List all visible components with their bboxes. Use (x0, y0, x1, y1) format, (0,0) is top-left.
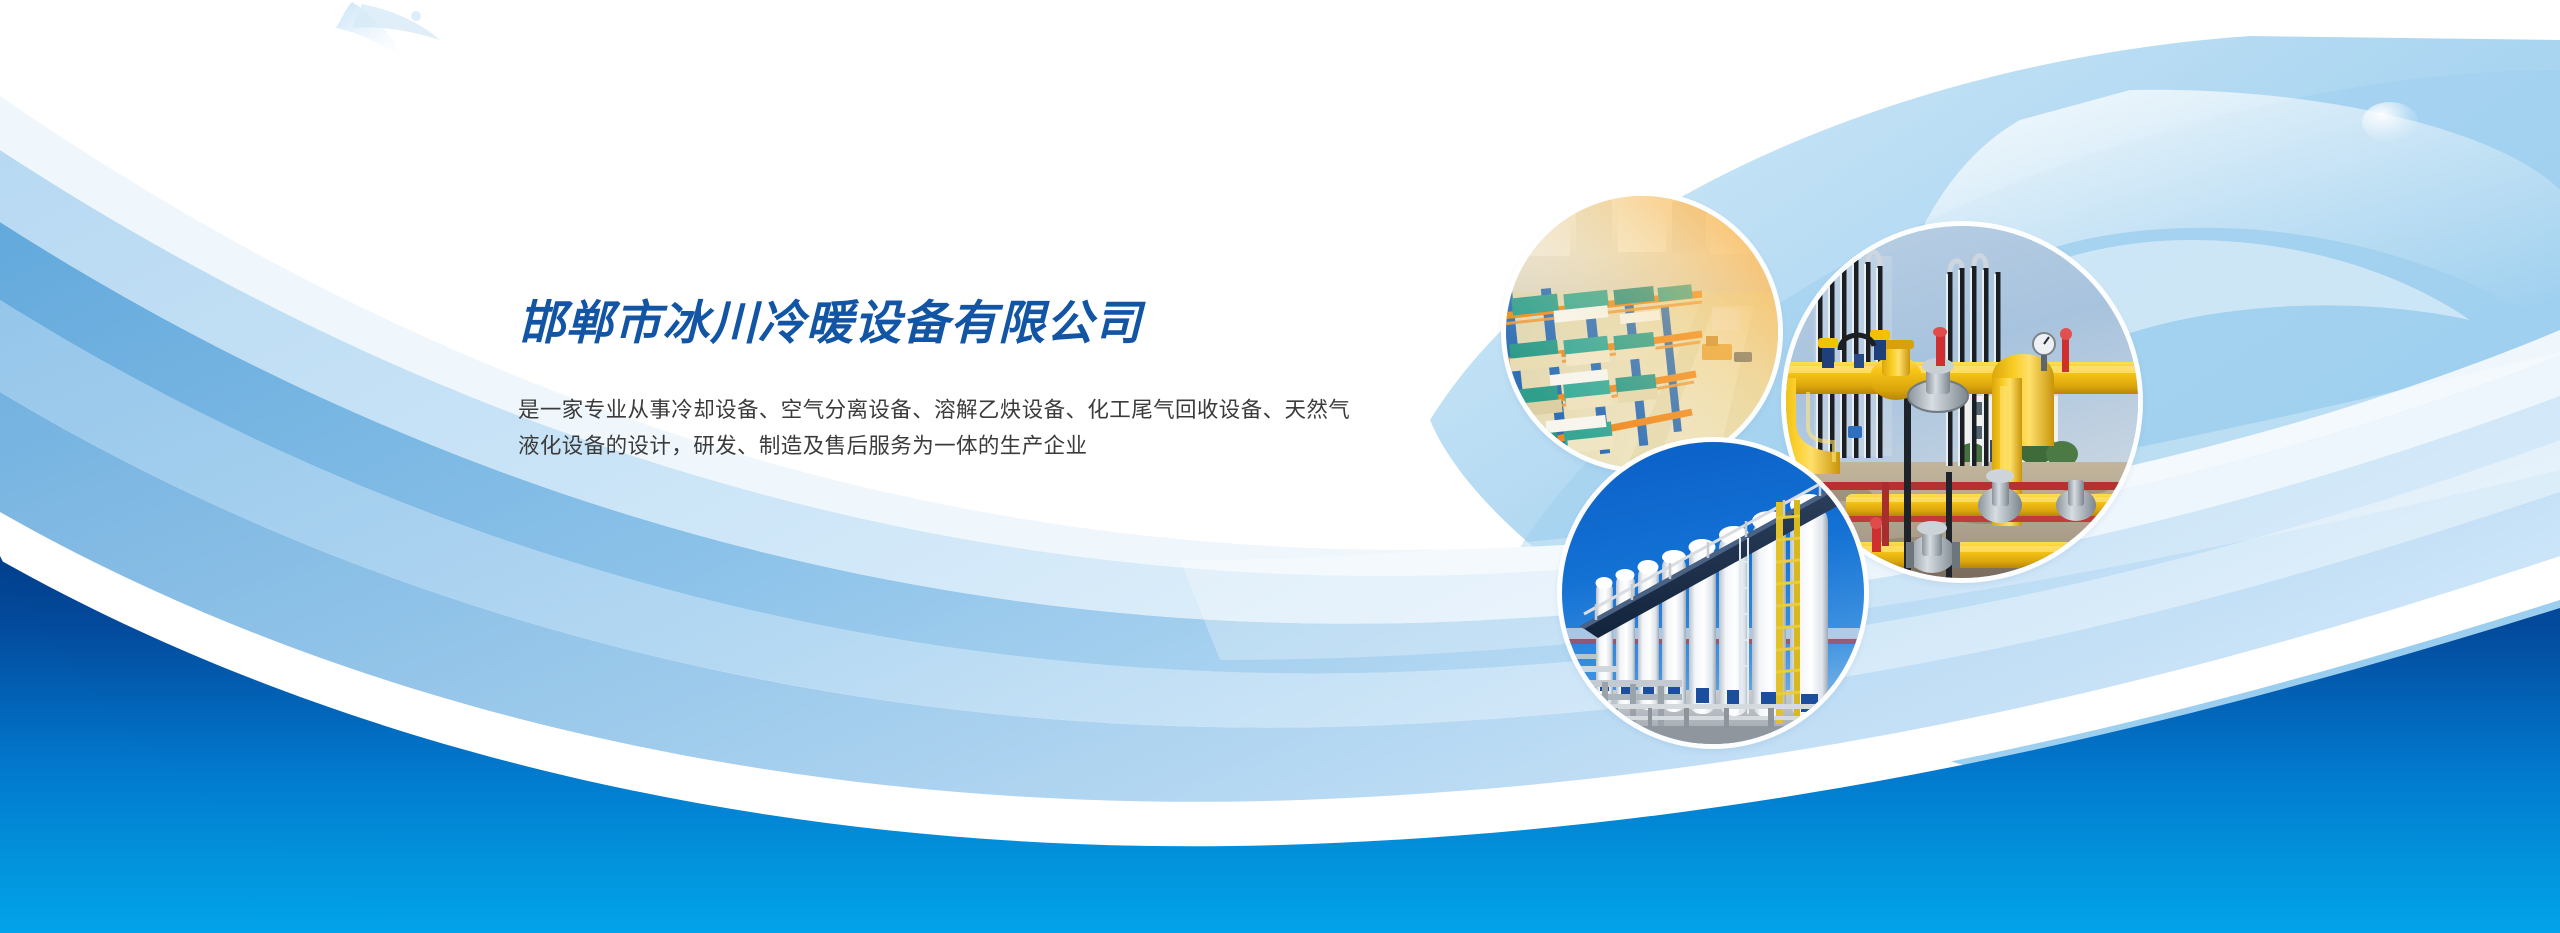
photo-warehouse-racking (1506, 196, 1778, 468)
background-wave-art (0, 0, 2560, 933)
page-title: 邯郸市冰川冷暖设备有限公司 (518, 296, 1618, 350)
company-hero-banner: 邯郸市冰川冷暖设备有限公司 是一家专业从事冷却设备、空气分离设备、溶解乙炔设备、… (0, 0, 2560, 933)
description-line-1: 是一家专业从事冷却设备、空气分离设备、溶解乙炔设备、化工尾气回收设备、天然气 (518, 392, 1503, 428)
hero-text-block: 邯郸市冰川冷暖设备有限公司 是一家专业从事冷却设备、空气分离设备、溶解乙炔设备、… (518, 296, 1618, 464)
photo-cryogenic-storage-tanks (1562, 442, 1864, 744)
company-description: 是一家专业从事冷却设备、空气分离设备、溶解乙炔设备、化工尾气回收设备、天然气 液… (518, 392, 1503, 464)
description-line-2: 液化设备的设计，研发、制造及售后服务为一体的生产企业 (518, 428, 1503, 464)
